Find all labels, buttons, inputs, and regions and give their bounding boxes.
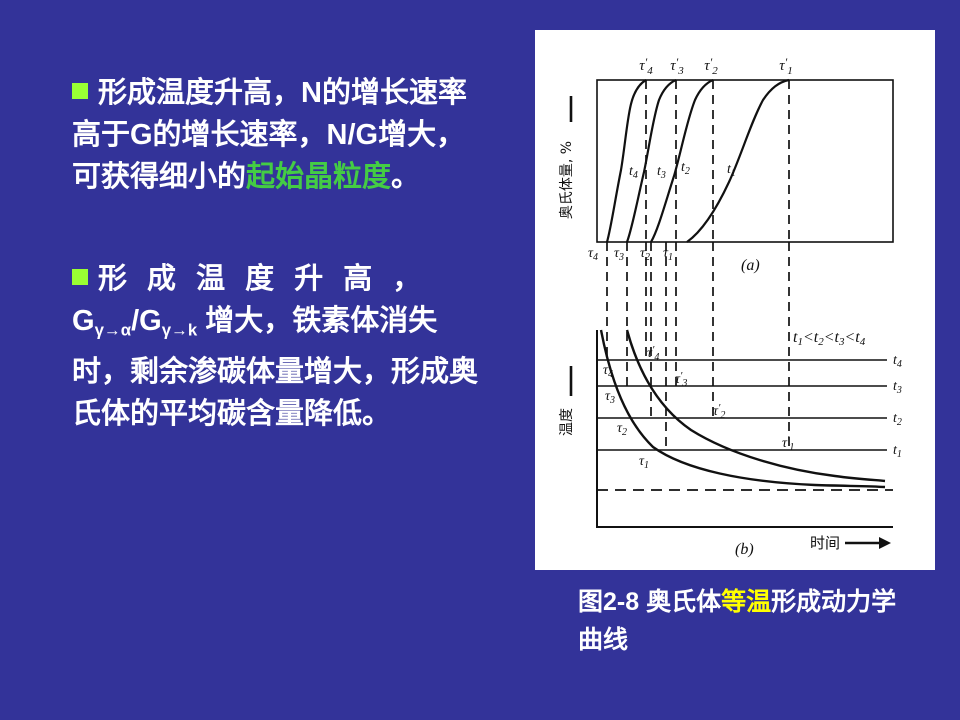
caption-prefix: 图2-8 奥氏体 bbox=[578, 588, 721, 616]
bullet-2-lead: 形 成 温 度 升 高 ， bbox=[98, 263, 427, 295]
formula-denominator: G bbox=[139, 305, 162, 337]
formula-numerator-subscript: γ→α bbox=[95, 320, 132, 339]
bullet-1-highlight: 起始晶粒度 bbox=[246, 161, 391, 193]
figure-background bbox=[535, 30, 935, 570]
figure-caption: 图2-8 奥氏体等温形成动力学曲线 bbox=[578, 583, 918, 659]
slide-text-column: 形成温度升高，N的增长速率高于G的增长速率，N/G增大，可获得细小的起始晶粒度。… bbox=[72, 72, 492, 632]
bullet-paragraph-2: 形 成 温 度 升 高 ，Gγ→α/Gγ→k 增大，铁素体消失时，剩余渗碳体量增… bbox=[72, 258, 492, 435]
green-square-bullet-icon bbox=[72, 269, 88, 285]
caption-highlight: 等温 bbox=[721, 588, 771, 616]
formula-separator: / bbox=[131, 305, 139, 337]
figure-image-panel: τ′4 τ′3 τ′2 τ′1 τ4 τ3 τ2 τ1 t4 t3 t2 t1 … bbox=[535, 30, 935, 570]
panel-a-yaxis-label: 奥氏体量, % bbox=[558, 141, 575, 219]
austenite-isothermal-kinetics-figure: τ′4 τ′3 τ′2 τ′1 τ4 τ3 τ2 τ1 t4 t3 t2 t1 … bbox=[535, 30, 935, 570]
panel-b-label: (b) bbox=[735, 541, 754, 558]
panel-b-annotation-inequality: t1<t2<t3<t4 bbox=[793, 329, 866, 348]
bullet-paragraph-1: 形成温度升高，N的增长速率高于G的增长速率，N/G增大，可获得细小的起始晶粒度。 bbox=[72, 72, 492, 198]
panel-a-label: (a) bbox=[741, 257, 760, 274]
bullet-1-text-after: 。 bbox=[391, 161, 420, 193]
green-square-bullet-icon bbox=[72, 83, 88, 99]
formula-denominator-subscript: γ→k bbox=[162, 320, 198, 339]
panel-b-xaxis-label: 时间 bbox=[810, 534, 840, 552]
formula-numerator: G bbox=[72, 305, 95, 337]
panel-b-yaxis-label: 温度 bbox=[559, 408, 575, 436]
